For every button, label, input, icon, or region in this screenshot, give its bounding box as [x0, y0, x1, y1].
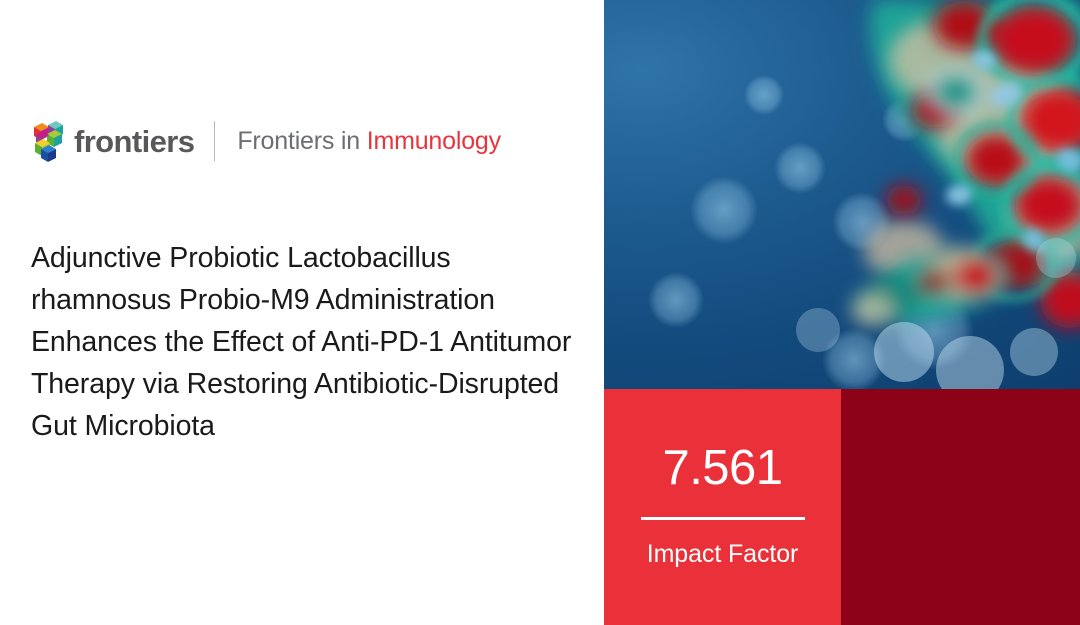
impact-factor-label: Impact Factor — [647, 542, 799, 567]
impact-factor-block: 7.561 Impact Factor — [604, 389, 841, 625]
frontiers-cube-logo-icon — [30, 119, 64, 163]
article-promo-card: frontiers Frontiers in Immunology Adjunc… — [0, 0, 1080, 625]
article-title: Adjunctive Probiotic Lactobacillus rhamn… — [31, 237, 576, 447]
impact-factor-divider — [641, 517, 805, 520]
immunofluorescence-cell-micrograph — [604, 0, 1080, 389]
frontiers-wordmark: frontiers — [74, 126, 194, 157]
left-content-column: frontiers Frontiers in Immunology Adjunc… — [0, 0, 604, 625]
journal-title: Frontiers in Immunology — [237, 129, 501, 154]
brand-header: frontiers Frontiers in Immunology — [30, 118, 501, 164]
right-media-column: 7.561 Impact Factor — [604, 0, 1080, 625]
brand-divider — [214, 121, 215, 161]
impact-factor-value: 7.561 — [662, 444, 782, 493]
dark-red-accent-panel — [841, 389, 1080, 625]
journal-title-accent: Immunology — [367, 127, 501, 155]
journal-title-prefix: Frontiers in — [237, 127, 366, 155]
